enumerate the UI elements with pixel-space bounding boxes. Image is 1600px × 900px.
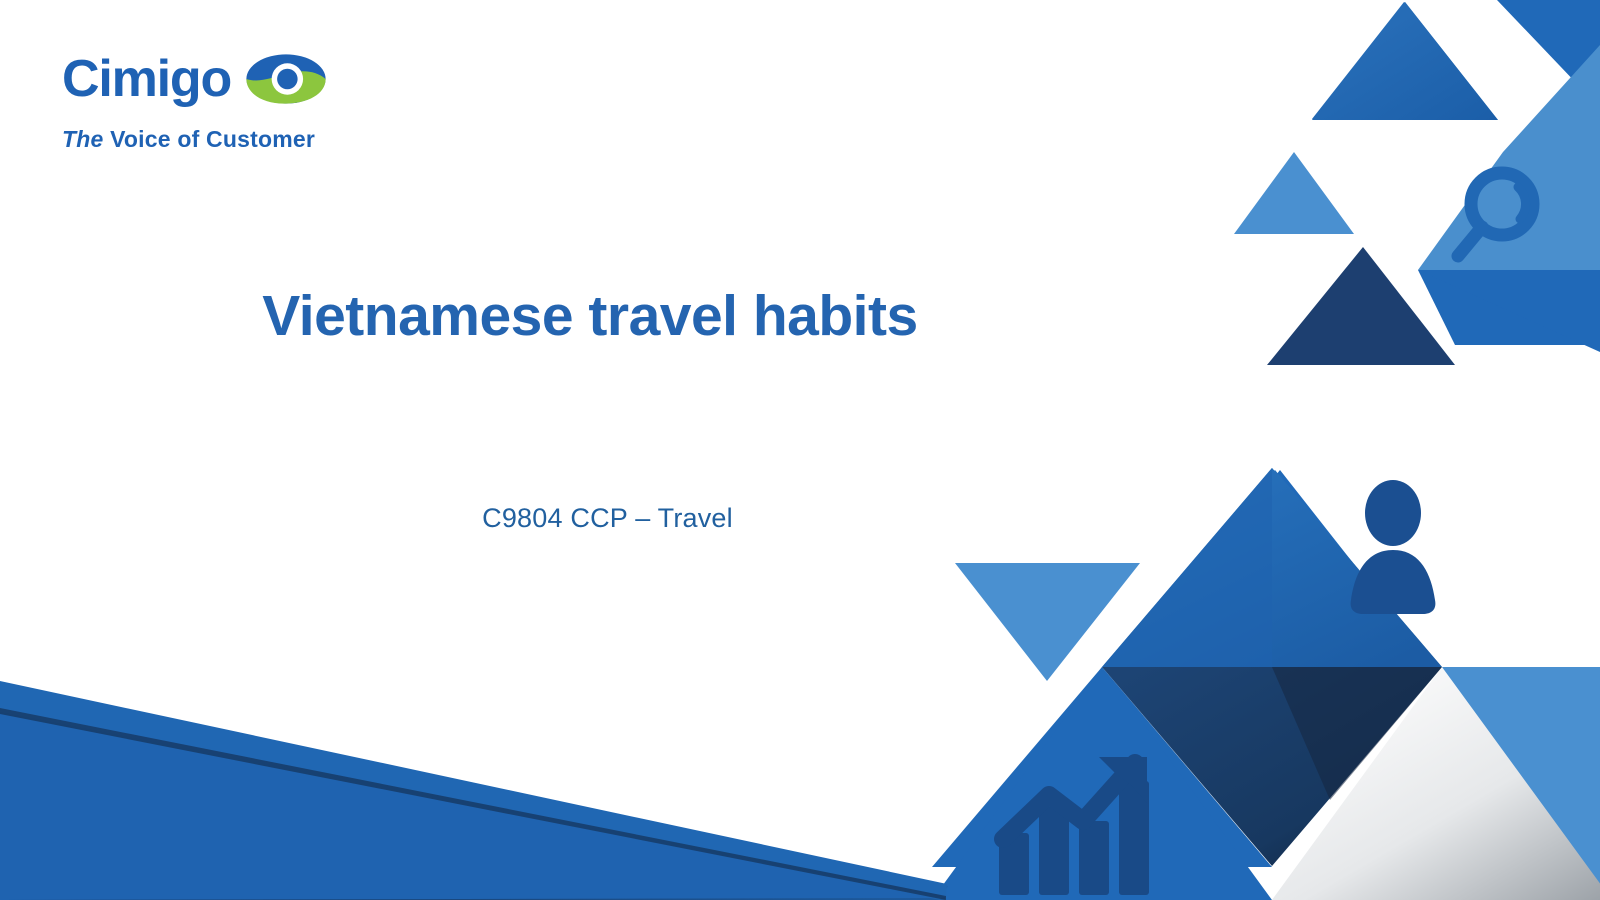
logo-wordmark: Cimigo [62, 53, 231, 105]
triangle-left-pyramid-main [1102, 468, 1442, 667]
logo-tagline: The Voice of Customer [62, 126, 402, 153]
band-lower-main [0, 706, 945, 900]
magnifier-icon [1458, 173, 1533, 256]
triangle-down-lightblue-center [955, 563, 1140, 681]
band-divider-shadow [0, 706, 946, 900]
page-subtitle: C9804 CCP – Travel [0, 503, 1215, 534]
triangle-bottomright-lightblue [1442, 667, 1600, 900]
triangle-magnifier-body [1418, 45, 1600, 270]
triangle-top-blue-main [1312, 2, 1498, 120]
triangle-small-lightblue [1234, 152, 1354, 234]
triangle-top-blue-body [1312, 2, 1498, 120]
logo-tagline-rest: Voice of Customer [104, 126, 316, 152]
growth-chart-icon [999, 757, 1149, 895]
triangle-mid-pyramid-darkface [1102, 468, 1272, 667]
triangle-magnifier [1418, 110, 1600, 270]
logo-row: Cimigo [62, 48, 402, 110]
triangle-topright-corner [1510, 0, 1600, 95]
triangle-navy-mid [1267, 247, 1455, 365]
triangle-gray-gradient [1272, 667, 1600, 900]
triangle-mid-pyramid [1102, 468, 1442, 667]
triangle-person [1126, 470, 1434, 666]
title-slide: Cimigo The Voice of Customer Vietnamese … [0, 0, 1600, 900]
triangle-bottomright-lightblue-b [1442, 667, 1600, 900]
triangle-navy-corner [1272, 667, 1442, 800]
triangle-magnifier-base-band [1418, 270, 1600, 345]
triangle-gray-gradient-top [1272, 667, 1600, 900]
triangle-chart-left-body [932, 667, 1272, 900]
brand-logo: Cimigo The Voice of Customer [62, 48, 402, 153]
person-icon [1351, 480, 1436, 614]
band-upper [0, 682, 948, 900]
logo-tagline-the: The [62, 126, 104, 152]
triangle-big-blue-upper [1110, 470, 1440, 666]
eye-logo-icon [245, 53, 327, 105]
band-lower-body [0, 712, 946, 900]
triangle-topright-wedge [1497, 0, 1600, 108]
page-title: Vietnamese travel habits [0, 285, 1180, 348]
triangle-top-blue [1312, 2, 1496, 119]
triangle-big-blue-left-facet [1110, 470, 1275, 666]
triangle-navy-down [1102, 667, 1442, 866]
triangle-chart-left [932, 667, 1272, 867]
triangle-magnifier-base [1418, 270, 1600, 352]
band-upper-body [0, 681, 947, 896]
